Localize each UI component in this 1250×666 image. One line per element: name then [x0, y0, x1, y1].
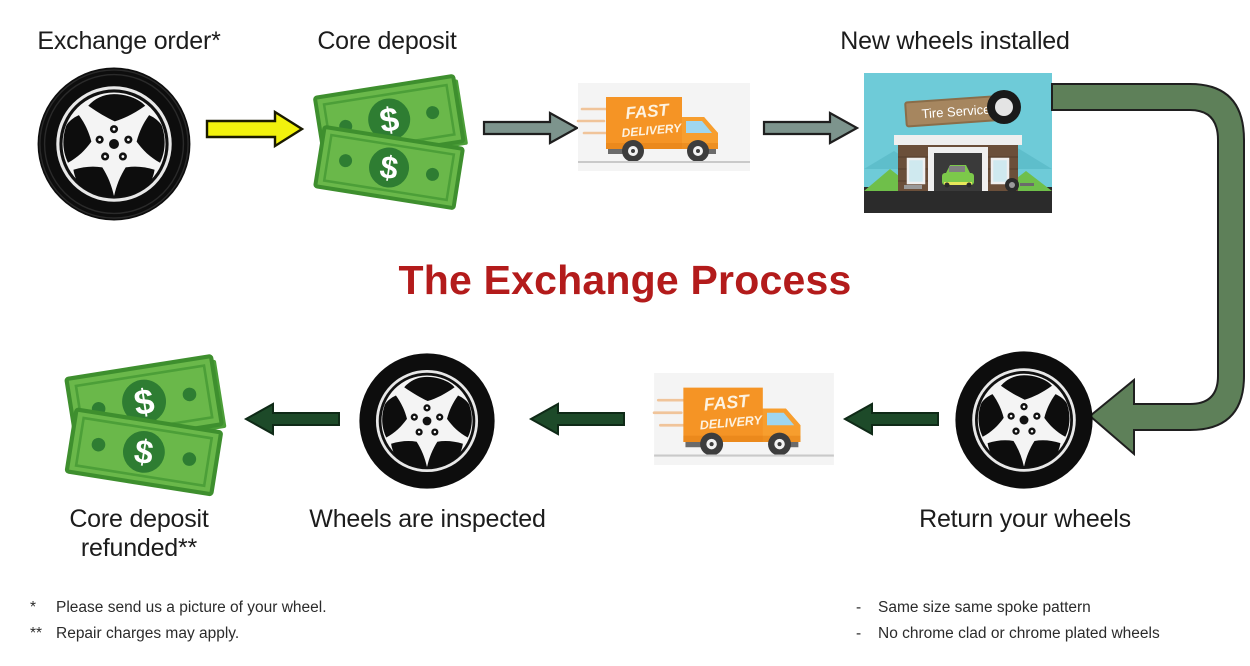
wheel-icon-bottom-mid [358, 352, 496, 490]
footnote-mark: - [856, 621, 878, 647]
label-wheels-are-inspected: Wheels are inspected [290, 505, 565, 534]
footnotes-left: * Please send us a picture of your wheel… [30, 595, 450, 646]
label-exchange-order: Exchange order* [0, 27, 258, 56]
wheel-icon-bottom-right [954, 350, 1094, 490]
arrow-right-slate-2 [762, 110, 860, 146]
label-return-your-wheels: Return your wheels [880, 505, 1170, 534]
footnotes-right: - Same size same spoke pattern - No chro… [856, 595, 1250, 646]
footnote-mark: * [30, 595, 56, 621]
money-icon-bottom: $ $ [57, 352, 237, 490]
delivery-truck-icon-bottom: FAST DELIVERY [654, 373, 834, 465]
delivery-truck-icon-top: FAST DELIVERY [578, 83, 750, 171]
tire-service-shop-icon: Tire Service [864, 73, 1052, 213]
arrow-right-yellow [205, 110, 305, 148]
page-title: The Exchange Process [225, 257, 1025, 304]
footnote-item: * Please send us a picture of your wheel… [30, 595, 450, 621]
label-core-deposit: Core deposit [282, 27, 492, 56]
footnote-mark: - [856, 595, 878, 621]
label-core-deposit-refunded: Core deposit refunded** [28, 505, 250, 563]
money-icon-top: $ $ [307, 72, 477, 204]
footnote-text: Repair charges may apply. [56, 621, 239, 647]
arrow-left-dark-green-2 [528, 402, 626, 436]
arrow-left-dark-green-3 [243, 402, 341, 436]
svg-text:FAST: FAST [625, 100, 672, 123]
footnote-text: Please send us a picture of your wheel. [56, 595, 327, 621]
wheel-icon-top [36, 66, 192, 222]
arrow-right-slate-1 [482, 110, 580, 146]
exchange-process-diagram: Exchange order* Core deposit New wheels … [0, 0, 1250, 666]
footnote-item: - Same size same spoke pattern [856, 595, 1250, 621]
footnote-mark: ** [30, 621, 56, 647]
footnote-text: No chrome clad or chrome plated wheels [878, 621, 1160, 647]
footnote-item: - No chrome clad or chrome plated wheels [856, 621, 1250, 647]
svg-text:FAST: FAST [703, 391, 752, 415]
arrow-left-dark-green-1 [842, 402, 940, 436]
footnote-item: ** Repair charges may apply. [30, 621, 450, 647]
footnote-text: Same size same spoke pattern [878, 595, 1091, 621]
label-new-wheels-installed: New wheels installed [800, 27, 1110, 56]
